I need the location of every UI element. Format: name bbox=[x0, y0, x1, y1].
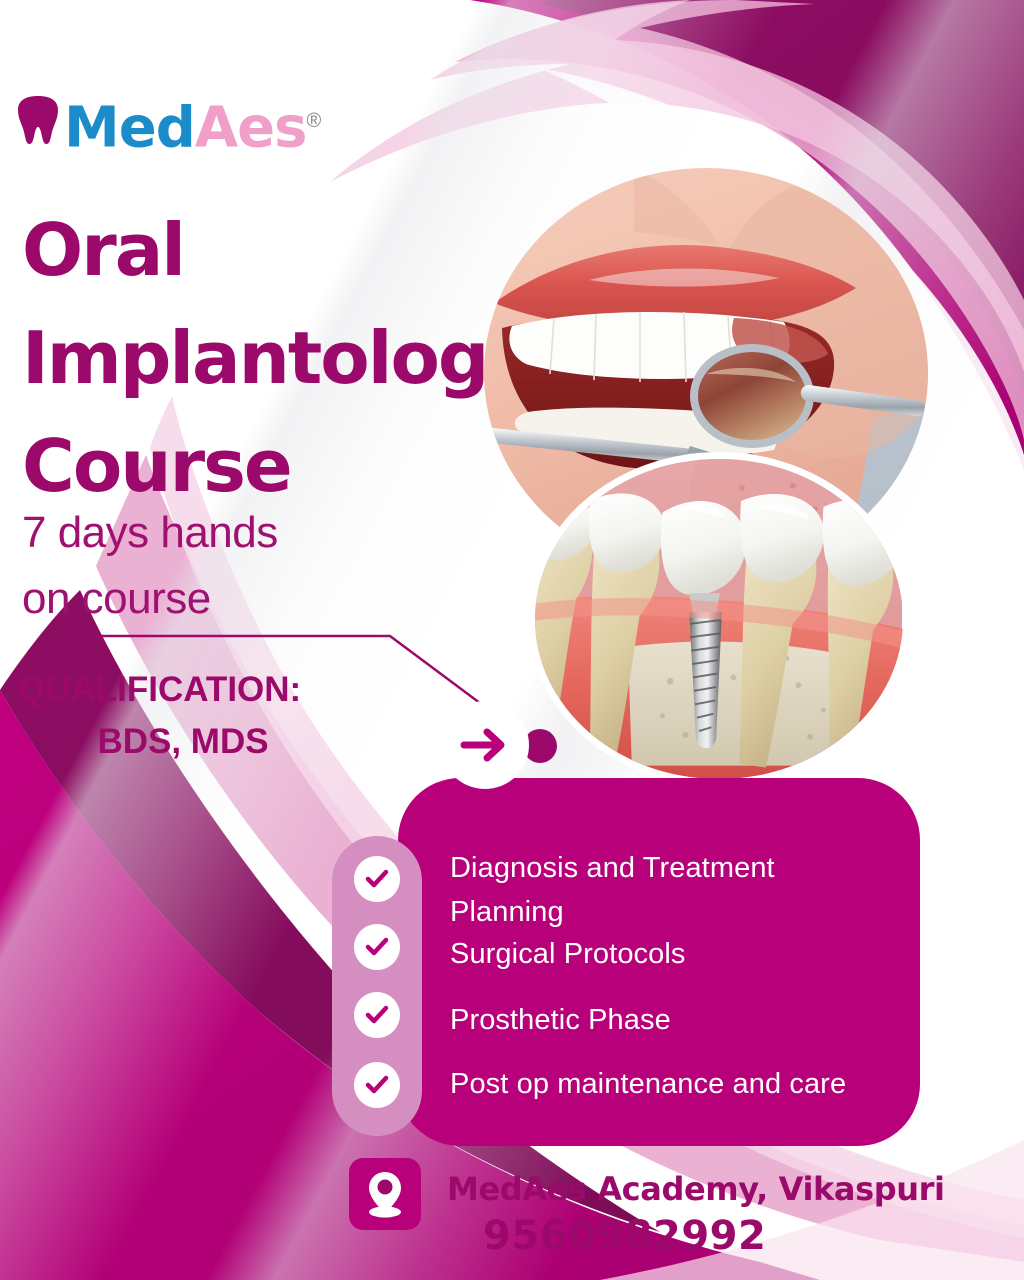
qualification-label: QUALIFICATION: bbox=[18, 664, 348, 716]
registered-mark: ® bbox=[306, 110, 320, 132]
check-icon bbox=[364, 934, 390, 960]
arrow-right-icon bbox=[460, 725, 510, 765]
tooth-icon bbox=[16, 94, 60, 146]
check-icon bbox=[364, 1002, 390, 1028]
check-icon bbox=[364, 866, 390, 892]
arrow-button[interactable] bbox=[441, 701, 529, 789]
brand-name-med: Med bbox=[64, 96, 195, 161]
implant-cross-section bbox=[535, 459, 903, 779]
feature-label-2: Surgical Protocols bbox=[450, 932, 880, 976]
check-icon bbox=[364, 1072, 390, 1098]
venue-name: MedAes Academy, Vikaspuri bbox=[447, 1170, 945, 1208]
poster-root: MedAes® Oral Implantology Course 7 days … bbox=[0, 0, 1024, 1280]
qualification-value: BDS, MDS bbox=[18, 716, 348, 768]
check-icon-wrapper-2 bbox=[354, 924, 400, 970]
title-line-2: Implantology bbox=[22, 304, 542, 412]
brand-wordmark: MedAes® bbox=[64, 92, 320, 158]
map-pin-icon bbox=[364, 1169, 406, 1219]
feature-label-1: Diagnosis and Treatment Planning bbox=[450, 846, 880, 934]
brand-logo[interactable]: MedAes® bbox=[16, 92, 320, 158]
brand-name-aes: Aes bbox=[195, 96, 307, 161]
location-badge[interactable] bbox=[349, 1158, 421, 1230]
contact-phone[interactable]: 9560982992 bbox=[483, 1213, 766, 1259]
check-icon-wrapper-4 bbox=[354, 1062, 400, 1108]
check-icon-wrapper-3 bbox=[354, 992, 400, 1038]
page-title: Oral Implantology Course bbox=[22, 196, 542, 520]
check-icon-wrapper-1 bbox=[354, 856, 400, 902]
title-line-1: Oral bbox=[22, 196, 542, 304]
feature-label-3: Prosthetic Phase bbox=[450, 998, 880, 1042]
qualification-block: QUALIFICATION: BDS, MDS bbox=[18, 664, 348, 768]
feature-label-4: Post op maintenance and care bbox=[450, 1062, 890, 1106]
subtitle-line-1: 7 days hands bbox=[22, 500, 442, 566]
dental-implant-illustration bbox=[528, 452, 910, 786]
